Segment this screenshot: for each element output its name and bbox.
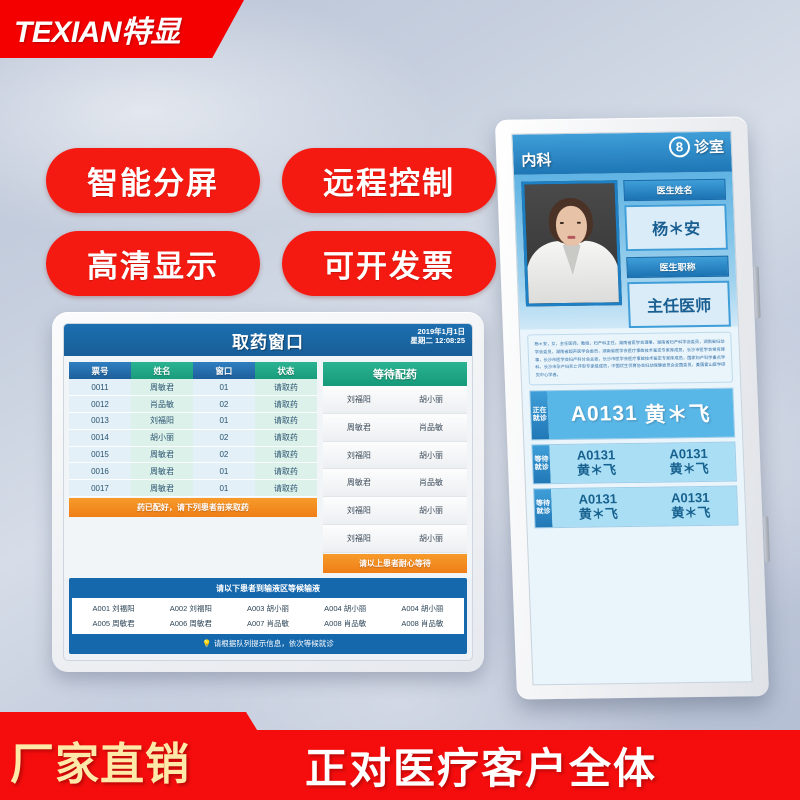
bulb-icon: 💡	[202, 639, 211, 648]
banner-right-block: 正对医疗客户全体	[305, 730, 657, 800]
doctor-bio-panel: 杨＊安，女，主任医师，教授，妇产科主任，湖南省医学会理事，湖南省妇产科学会委员，…	[527, 332, 733, 386]
pharmacy-tablet-device: 取药窗口 2019年1月1日 星期二 12:08:25 票号 姓名 窗口 状态	[52, 312, 484, 672]
now-serving-id: A0131	[570, 402, 638, 427]
feature-badge-remote-control: 远程控制	[282, 148, 496, 213]
doctor-info-section: 医生姓名 杨＊安 医生职称 主任医师	[514, 172, 738, 330]
col-name: 姓名	[131, 362, 193, 379]
device-side-vent-bottom	[763, 516, 770, 562]
waiting-name: 肖品敏	[395, 469, 467, 496]
room-number-badge: 8	[669, 136, 691, 157]
clock-date: 2019年1月1日	[410, 327, 465, 336]
waiting-tag: 等待就诊	[534, 489, 552, 527]
cell-ticket: 0013	[69, 413, 131, 430]
table-header-row: 票号 姓名 窗口 状态	[69, 362, 317, 379]
waiting-panel-notice: 请以上患者耐心等待	[323, 554, 467, 573]
doctor-title-field: 医生职称 主任医师	[626, 256, 731, 328]
waiting-cells: A0131 黄＊飞 A0131 黄＊飞	[551, 486, 737, 526]
cell-name: 周敏君	[131, 480, 193, 497]
waiting-panel-list: 刘福阳 胡小丽 周敏君 肖品敏 刘福阳 胡小丽 周敏君 肖品敏	[323, 386, 467, 553]
waiting-tag: 等待就诊	[532, 445, 550, 483]
doctor-field-group: 医生姓名 杨＊安 医生职称 主任医师	[623, 179, 731, 328]
cell-ticket: 0016	[69, 463, 131, 480]
brand-logo-text: TEXIAN特显	[14, 7, 180, 51]
col-window: 窗口	[193, 362, 255, 379]
table-row: 0013 刘福阳 01 请取药	[69, 413, 317, 430]
cell-window: 02	[193, 446, 255, 463]
waiting-name: 刘福阳	[323, 497, 395, 524]
pharmacy-clock: 2019年1月1日 星期二 12:08:25	[410, 327, 465, 346]
cell-name: 刘福阳	[131, 413, 193, 430]
doctor-name-value: 杨＊安	[624, 204, 728, 251]
photo-mouth	[567, 236, 575, 239]
pharmacy-body: 票号 姓名 窗口 状态 0011 周敏君 01 请取药 0012	[64, 356, 472, 578]
waiting-row: 等待就诊 A0131 黄＊飞 A0131 黄＊飞	[531, 441, 737, 484]
feature-badge-row-2: 高清显示 可开发票	[46, 231, 506, 296]
waiting-entry: A0131 黄＊飞	[644, 486, 738, 525]
feature-badge-group: 智能分屏 远程控制 高清显示 可开发票	[46, 148, 506, 314]
now-serving-name: 黄＊飞	[644, 398, 711, 429]
clock-time: 星期二 12:08:25	[410, 336, 465, 345]
waiting-panel-title: 等待配药	[323, 362, 467, 386]
pharmacy-queue-section: 票号 姓名 窗口 状态 0011 周敏君 01 请取药 0012	[69, 362, 317, 573]
table-body: 0011 周敏君 01 请取药 0012 肖品敏 02 请取药 0013	[69, 379, 317, 497]
cell-status: 请取药	[255, 379, 317, 396]
cell-name: 周敏君	[131, 379, 193, 396]
brand-logo: TEXIAN特显	[0, 0, 244, 58]
list-item: 刘福阳 胡小丽	[323, 386, 467, 414]
waiting-name: 黄＊飞	[669, 462, 709, 477]
banner-left-block: 厂家直销	[0, 712, 300, 800]
waiting-name: 刘福阳	[323, 386, 395, 413]
now-serving-row: 正在就诊 A0131 黄＊飞	[529, 387, 735, 440]
clinic-display-bezel: 内科 8 诊室	[495, 116, 769, 699]
list-item: 周敏君 肖品敏	[323, 414, 467, 442]
cell-window: 01	[193, 480, 255, 497]
list-item: 周敏君 肖品敏	[323, 469, 467, 497]
list-item: A004 胡小丽	[308, 603, 383, 614]
table-row: 0017 周敏君 01 请取药	[69, 480, 317, 497]
cell-status: 请取药	[255, 396, 317, 413]
feature-badge-hd-display: 高清显示	[46, 231, 260, 296]
waiting-name: 刘福阳	[323, 525, 395, 552]
list-item: A008 肖品敏	[308, 618, 383, 629]
doctor-title-value: 主任医师	[627, 281, 731, 328]
waiting-name: 胡小丽	[395, 386, 467, 413]
feature-badge-invoice: 可开发票	[282, 231, 496, 296]
waiting-name: 肖品敏	[395, 414, 467, 441]
list-item: A001 刘福阳	[76, 603, 151, 614]
col-ticket: 票号	[69, 362, 131, 379]
infusion-panel-grid: A001 刘福阳 A002 刘福阳 A003 胡小丽 A004 胡小丽 A004…	[72, 598, 464, 634]
cell-window: 01	[193, 379, 255, 396]
doctor-name-label: 医生姓名	[623, 179, 726, 201]
room-indicator: 8 诊室	[669, 136, 725, 158]
list-item: A007 肖品敏	[230, 618, 305, 629]
cell-ticket: 0012	[69, 396, 131, 413]
list-item: 刘福阳 胡小丽	[323, 497, 467, 525]
table-row: 0016 周敏君 01 请取药	[69, 463, 317, 480]
waiting-cells: A0131 黄＊飞 A0131 黄＊飞	[549, 442, 735, 482]
waiting-entry: A0131 黄＊飞	[642, 442, 736, 481]
room-label: 诊室	[694, 136, 725, 157]
cell-status: 请取药	[255, 446, 317, 463]
banner-right-text: 正对医疗客户全体	[305, 735, 657, 796]
cell-ticket: 0015	[69, 446, 131, 463]
infusion-panel-title: 请以下患者到输液区等候输液	[72, 581, 464, 598]
feature-badge-row-1: 智能分屏 远程控制	[46, 148, 506, 213]
cell-status: 请取药	[255, 480, 317, 497]
cell-status: 请取药	[255, 413, 317, 430]
now-serving-tag: 正在就诊	[530, 391, 549, 439]
photo-eye-left	[560, 222, 564, 224]
list-item: A003 胡小丽	[230, 603, 305, 614]
doctor-title-label: 医生职称	[626, 256, 729, 278]
cell-ticket: 0017	[69, 480, 131, 497]
cell-window: 01	[193, 413, 255, 430]
waiting-name: 黄＊飞	[579, 507, 619, 522]
waiting-id: A0131	[578, 492, 617, 507]
clinic-queue-section: 正在就诊 A0131 黄＊飞 等待就诊 A0131 黄＊飞	[522, 382, 752, 684]
cell-name: 周敏君	[131, 463, 193, 480]
waiting-name: 胡小丽	[395, 525, 467, 552]
waiting-name: 刘福阳	[323, 442, 395, 469]
table-row: 0014 胡小丽 02 请取药	[69, 429, 317, 446]
now-serving-value: A0131 黄＊飞	[547, 388, 734, 439]
clinic-display-device: 内科 8 诊室	[495, 116, 769, 699]
list-item: A002 刘福阳	[153, 603, 228, 614]
cell-name: 周敏君	[131, 446, 193, 463]
department-label: 内科	[521, 149, 552, 170]
device-side-vent-top	[754, 266, 761, 318]
banner-left-text: 厂家直销	[10, 728, 190, 792]
cell-window: 02	[193, 396, 255, 413]
waiting-id: A0131	[669, 447, 708, 462]
photo-eye-right	[577, 222, 581, 224]
clinic-header: 内科 8 诊室	[512, 132, 732, 175]
waiting-name: 胡小丽	[395, 442, 467, 469]
doctor-name-field: 医生姓名 杨＊安	[623, 179, 728, 251]
photo-face	[555, 206, 588, 246]
waiting-row: 等待就诊 A0131 黄＊飞 A0131 黄＊飞	[533, 485, 739, 528]
cell-window: 01	[193, 463, 255, 480]
pharmacy-waiting-section: 等待配药 刘福阳 胡小丽 周敏君 肖品敏 刘福阳 胡小丽 周	[323, 362, 467, 573]
waiting-name: 黄＊飞	[577, 463, 617, 478]
waiting-id: A0131	[577, 448, 616, 463]
infusion-notice-text: 请根据队列提示信息，依次等候就诊	[214, 639, 334, 648]
table-row: 0011 周敏君 01 请取药	[69, 379, 317, 396]
cell-window: 02	[193, 429, 255, 446]
waiting-name: 胡小丽	[395, 497, 467, 524]
list-item: A006 周敏君	[153, 618, 228, 629]
list-item: 刘福阳 胡小丽	[323, 442, 467, 470]
list-item: A004 胡小丽	[385, 603, 460, 614]
infusion-panel-notice: 💡 请根据队列提示信息，依次等候就诊	[72, 634, 464, 651]
cell-ticket: 0014	[69, 429, 131, 446]
waiting-entry: A0131 黄＊飞	[551, 488, 645, 527]
cell-ticket: 0011	[69, 379, 131, 396]
doctor-photo	[521, 180, 622, 306]
table-row: 0012 肖品敏 02 请取药	[69, 396, 317, 413]
pharmacy-ready-notice: 药已配好，请下列患者前来取药	[69, 498, 317, 517]
feature-badge-smart-split: 智能分屏	[46, 148, 260, 213]
waiting-name: 黄＊飞	[671, 506, 711, 521]
list-item: A008 肖品敏	[385, 618, 460, 629]
cell-status: 请取药	[255, 429, 317, 446]
cell-name: 肖品敏	[131, 396, 193, 413]
pharmacy-queue-table: 票号 姓名 窗口 状态 0011 周敏君 01 请取药 0012	[69, 362, 317, 497]
pharmacy-title: 取药窗口	[232, 328, 304, 353]
pharmacy-screen: 取药窗口 2019年1月1日 星期二 12:08:25 票号 姓名 窗口 状态	[63, 323, 473, 661]
col-status: 状态	[255, 362, 317, 379]
doctor-bio-text: 杨＊安，女，主任医师，教授，妇产科主任，湖南省医学会理事，湖南省妇产科学会委员，…	[534, 338, 726, 379]
table-row: 0015 周敏君 02 请取药	[69, 446, 317, 463]
clinic-screen: 内科 8 诊室	[511, 131, 752, 686]
list-item: 刘福阳 胡小丽	[323, 525, 467, 553]
pharmacy-title-bar: 取药窗口 2019年1月1日 星期二 12:08:25	[64, 324, 472, 356]
list-item: A005 周敏君	[76, 618, 151, 629]
cell-name: 胡小丽	[131, 429, 193, 446]
waiting-id: A0131	[671, 491, 710, 506]
cell-status: 请取药	[255, 463, 317, 480]
waiting-name: 周敏君	[323, 414, 395, 441]
bottom-banner: 厂家直销 正对医疗客户全体	[0, 730, 800, 800]
waiting-name: 周敏君	[323, 469, 395, 496]
waiting-entry: A0131 黄＊飞	[549, 444, 643, 483]
infusion-panel: 请以下患者到输液区等候输液 A001 刘福阳 A002 刘福阳 A003 胡小丽…	[69, 578, 467, 654]
